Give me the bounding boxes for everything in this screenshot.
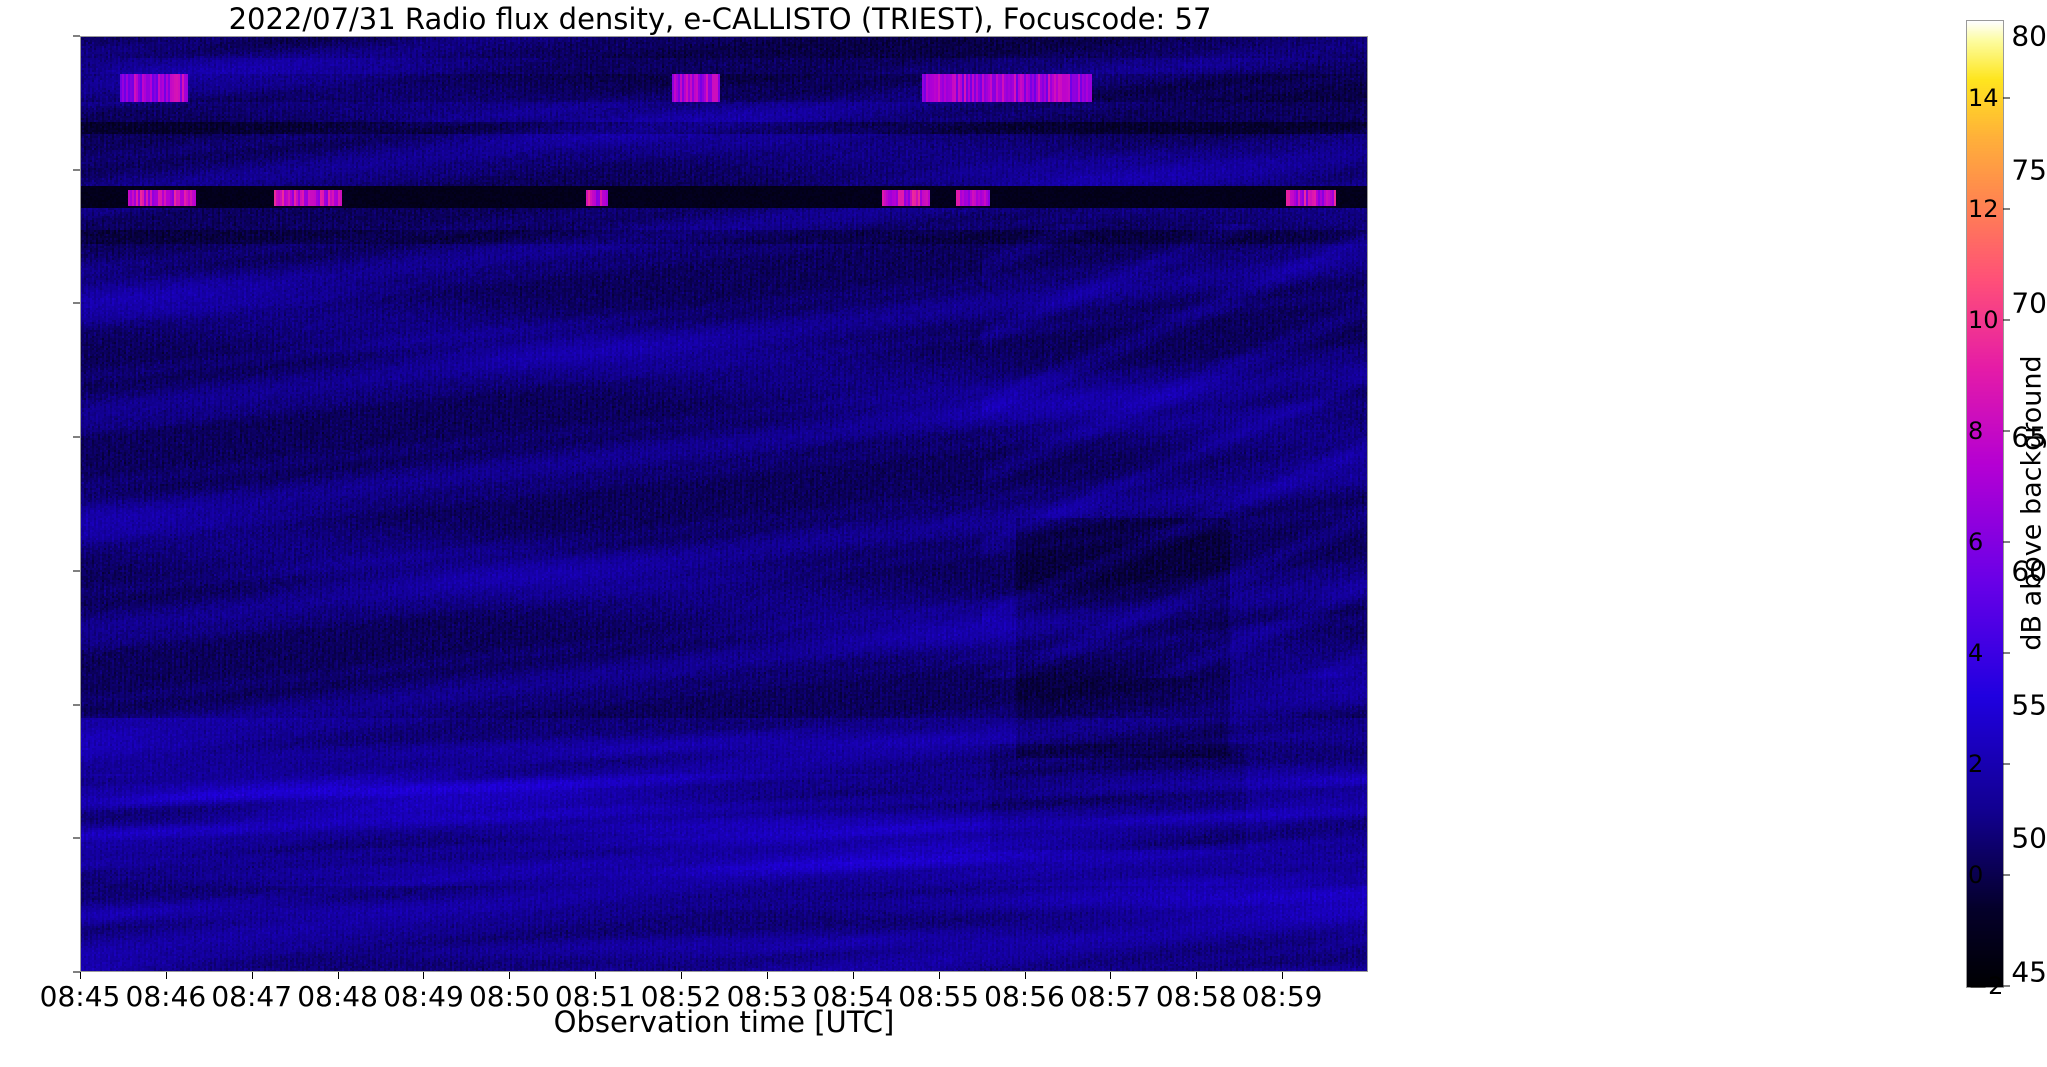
colorbar-tick-label: 0	[1968, 861, 1983, 889]
x-tick-mark	[1282, 972, 1283, 979]
colorbar-tick-mark	[2003, 874, 2010, 875]
x-tick-mark	[939, 972, 940, 979]
colorbar-tick-label: 10	[1968, 306, 1999, 334]
y-tick-mark	[73, 303, 80, 304]
x-tick-mark	[1025, 972, 1026, 979]
x-tick-mark	[853, 972, 854, 979]
x-tick-label: 08:46	[126, 980, 207, 1013]
x-tick-label: 08:57	[1070, 980, 1151, 1013]
y-tick-mark	[73, 36, 80, 37]
x-tick-mark	[509, 972, 510, 979]
x-tick-mark	[80, 972, 81, 979]
y-tick-mark	[73, 169, 80, 170]
figure-root: 2022/07/31 Radio flux density, e-CALLIST…	[0, 0, 2047, 1067]
x-tick-mark	[767, 972, 768, 979]
colorbar-tick-label: 8	[1968, 417, 1983, 445]
x-tick-mark	[595, 972, 596, 979]
colorbar-tick-label: −2	[1968, 972, 2003, 1000]
x-tick-mark	[166, 972, 167, 979]
colorbar-tick-label: 4	[1968, 639, 1983, 667]
colorbar-tick-mark	[2003, 541, 2010, 542]
colorbar-tick-mark	[2003, 763, 2010, 764]
x-tick-mark	[681, 972, 682, 979]
x-axis-label: Observation time [UTC]	[554, 1005, 895, 1039]
x-tick-label: 08:58	[1156, 980, 1237, 1013]
colorbar-tick-label: 12	[1968, 195, 1999, 223]
spectrogram-image	[80, 36, 1368, 972]
spectrogram-axes	[80, 36, 1368, 972]
y-tick-mark	[73, 972, 80, 973]
colorbar-tick-label: 14	[1968, 84, 1999, 112]
y-tick-mark	[73, 838, 80, 839]
colorbar-tick-mark	[2003, 208, 2010, 209]
x-tick-label: 08:45	[40, 980, 121, 1013]
page-title: 2022/07/31 Radio flux density, e-CALLIST…	[0, 2, 1440, 36]
x-tick-mark	[338, 972, 339, 979]
colorbar-tick-label: 6	[1968, 528, 1983, 556]
x-tick-mark	[1196, 972, 1197, 979]
colorbar-tick-mark	[2003, 986, 2010, 987]
x-tick-label: 08:48	[297, 980, 378, 1013]
colorbar-label: dB above background	[2017, 355, 2047, 650]
x-tick-mark	[423, 972, 424, 979]
y-tick-mark	[73, 437, 80, 438]
colorbar-tick-mark	[2003, 319, 2010, 320]
x-tick-label: 08:56	[984, 980, 1065, 1013]
x-tick-mark	[252, 972, 253, 979]
colorbar-tick-label: 2	[1968, 750, 1983, 778]
y-tick-mark	[73, 570, 80, 571]
x-tick-label: 08:47	[211, 980, 292, 1013]
x-tick-label: 08:55	[898, 980, 979, 1013]
colorbar-tick-mark	[2003, 97, 2010, 98]
x-tick-label: 08:59	[1242, 980, 1323, 1013]
colorbar-gradient	[1966, 20, 2004, 988]
colorbar	[1966, 20, 2002, 986]
x-tick-label: 08:49	[383, 980, 464, 1013]
x-tick-mark	[1110, 972, 1111, 979]
y-tick-mark	[73, 704, 80, 705]
colorbar-tick-mark	[2003, 652, 2010, 653]
x-tick-label: 08:50	[469, 980, 550, 1013]
colorbar-tick-mark	[2003, 430, 2010, 431]
